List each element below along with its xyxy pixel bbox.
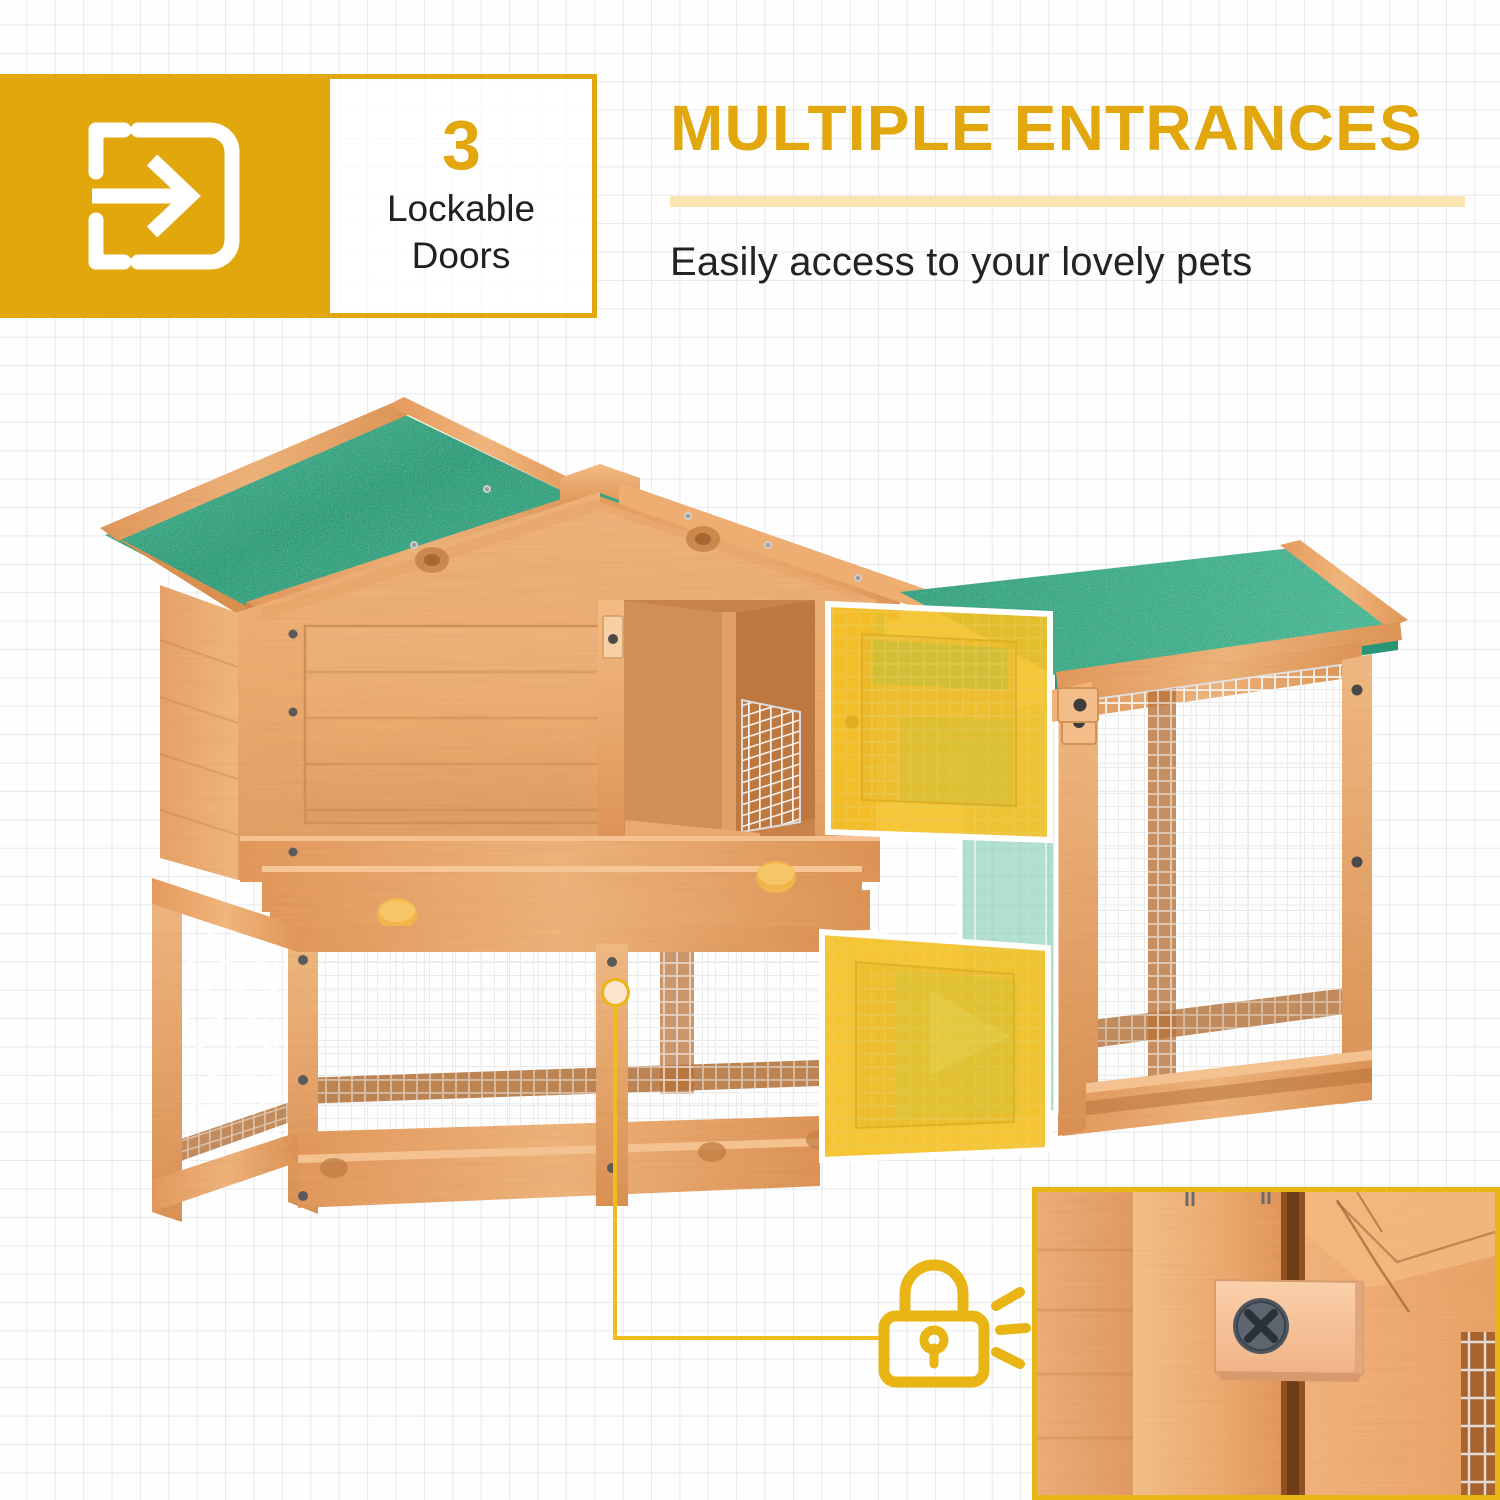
upper-run-door-highlight bbox=[828, 604, 1050, 840]
header-text-block: MULTIPLE ENTRANCES Easily access to your… bbox=[670, 96, 1470, 285]
lower-run-door-highlight bbox=[822, 932, 1048, 1160]
open-padlock-icon bbox=[872, 1248, 1032, 1418]
lower-run-left bbox=[152, 878, 830, 1222]
title-divider bbox=[670, 196, 1465, 207]
page-subtitle: Easily access to your lovely pets bbox=[670, 240, 1470, 285]
page-title: MULTIPLE ENTRANCES bbox=[670, 96, 1470, 160]
latch-closeup-inset bbox=[1032, 1187, 1500, 1500]
badge-line-2: Doors bbox=[412, 232, 511, 279]
badge-count: 3 bbox=[442, 112, 480, 179]
door-enter-arrow-icon bbox=[78, 116, 250, 276]
callout-line-vertical bbox=[613, 1006, 617, 1340]
badge-line-1: Lockable bbox=[387, 185, 535, 232]
infographic-canvas: 3 Lockable Doors MULTIPLE ENTRANCES Easi… bbox=[0, 0, 1500, 1500]
lockable-doors-badge: 3 Lockable Doors bbox=[325, 74, 597, 318]
callout-line-horizontal bbox=[613, 1336, 881, 1340]
callout-dot bbox=[601, 978, 630, 1007]
